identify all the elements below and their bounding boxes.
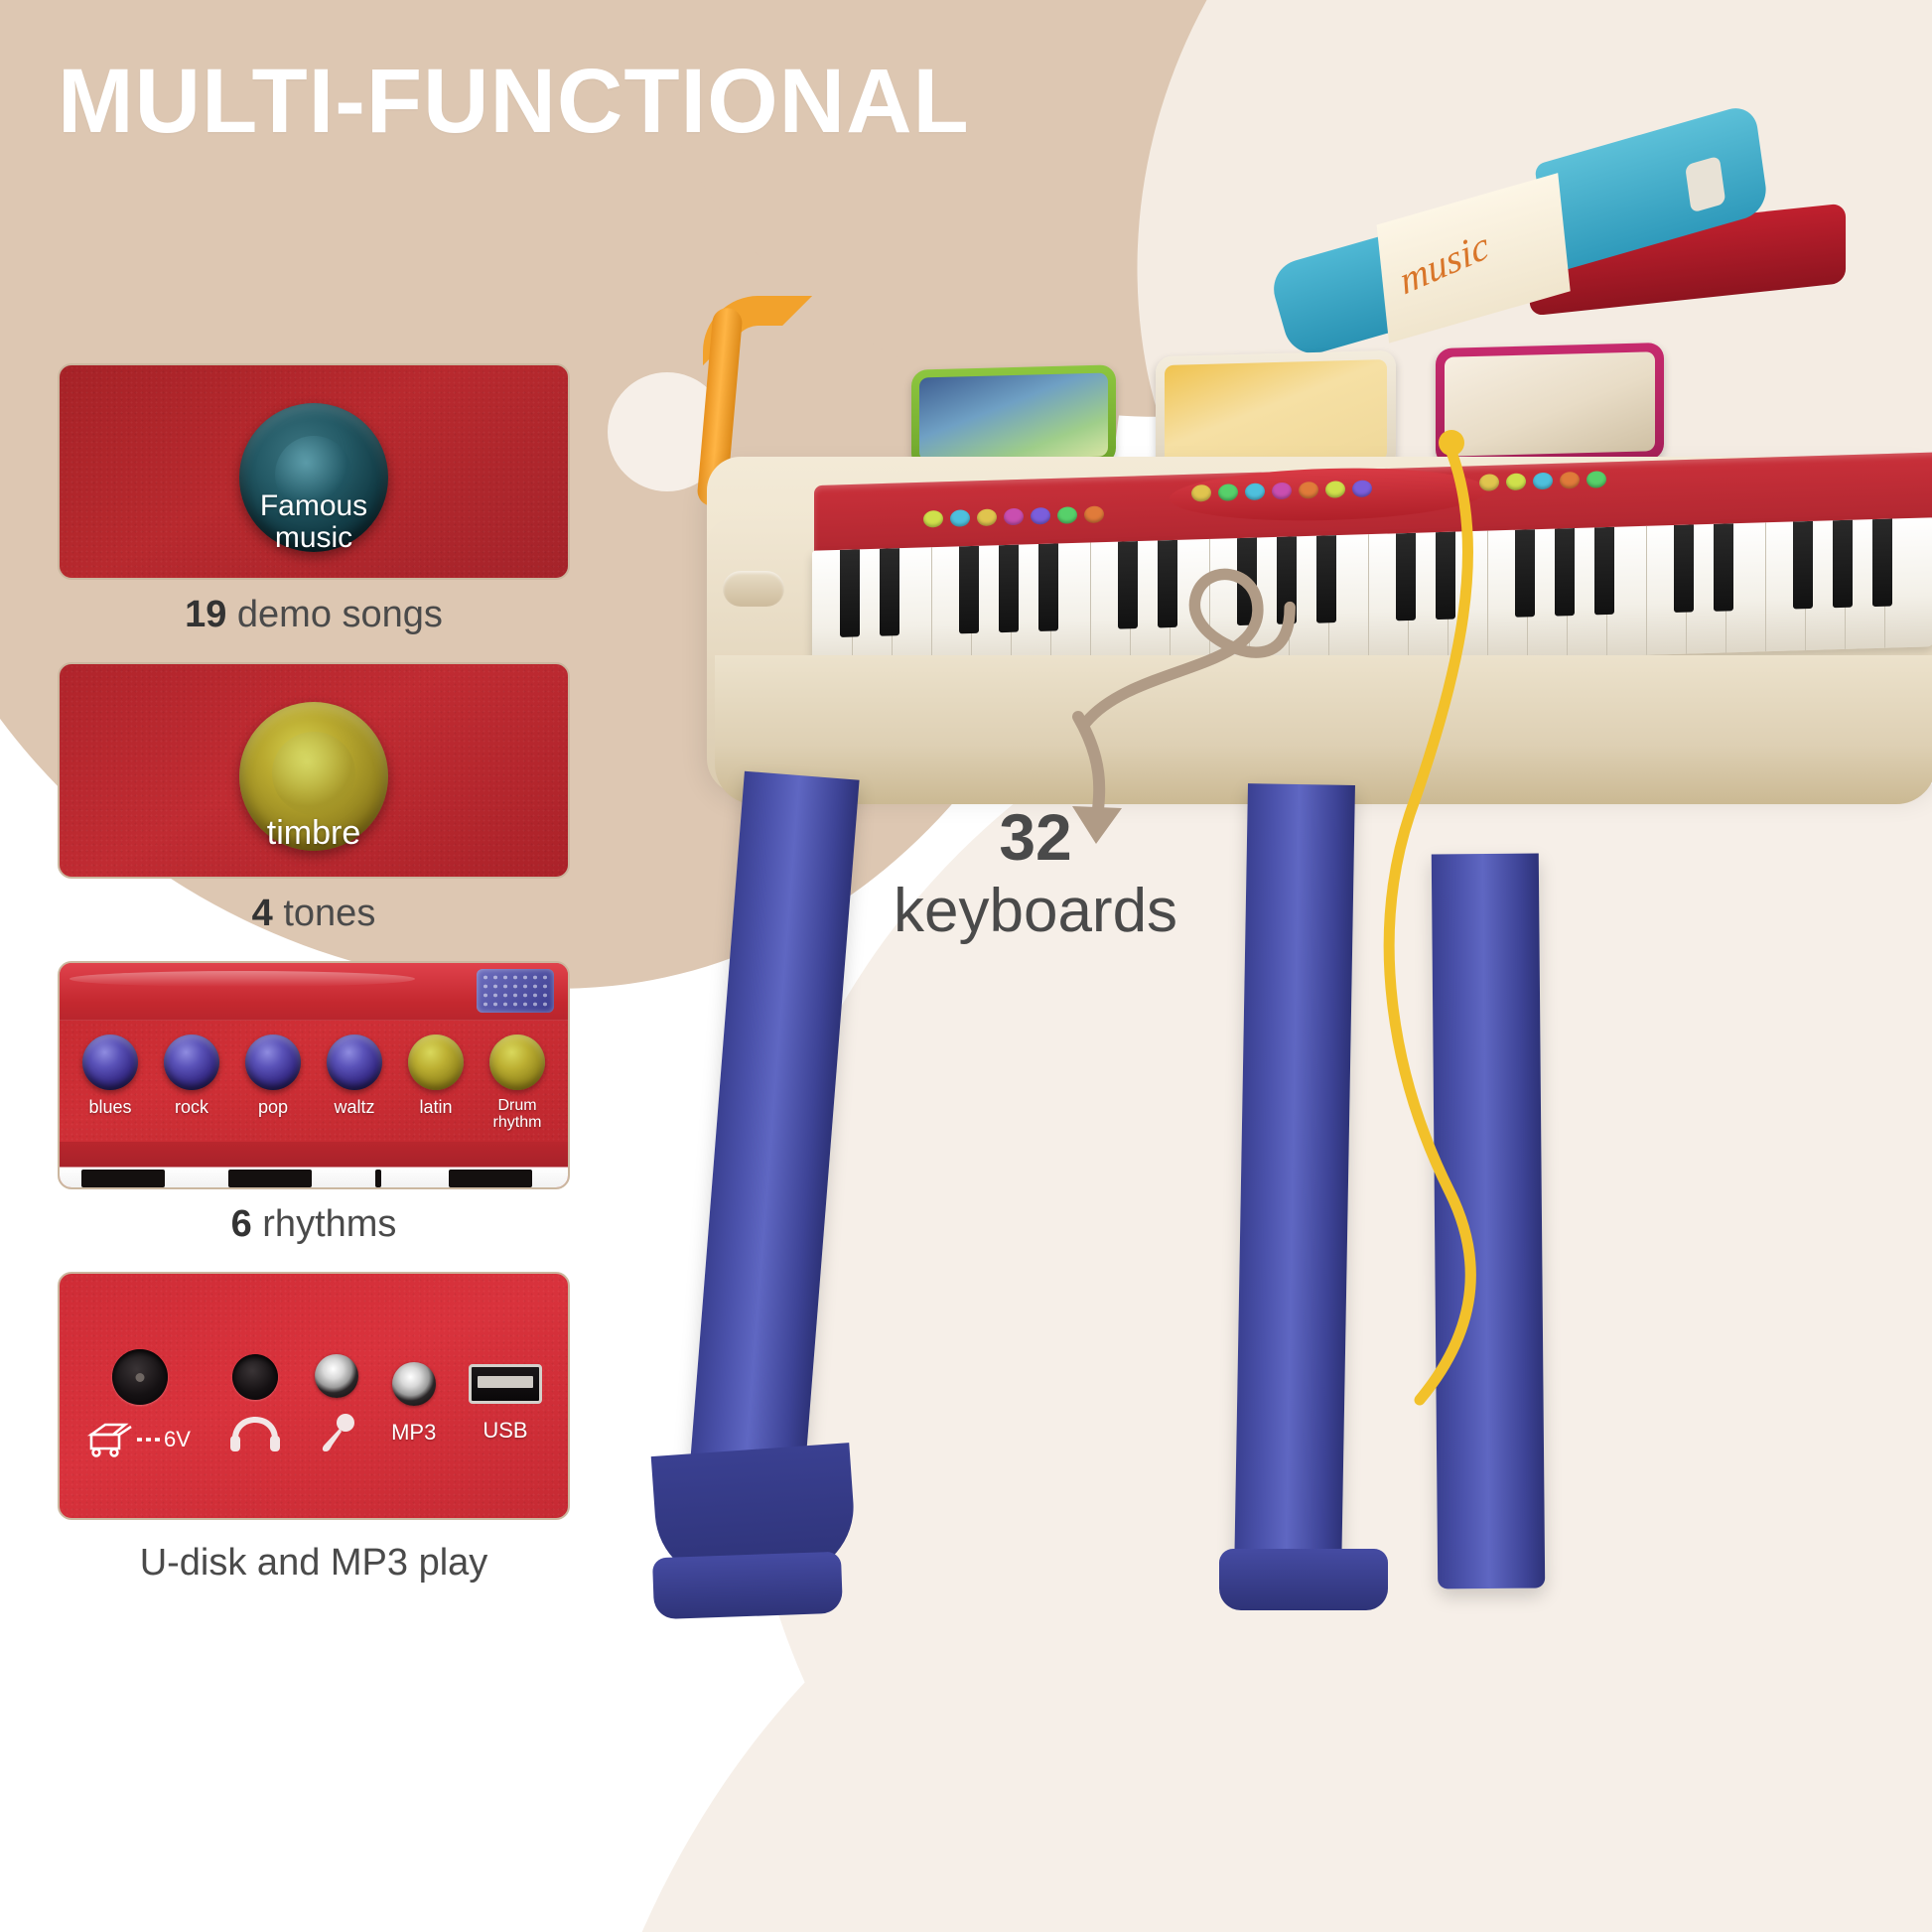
- headphone-icon: [227, 1414, 283, 1453]
- bead: [977, 508, 997, 526]
- feature-card-photo-tones: timbre: [58, 662, 570, 879]
- feature-tones: timbre 4 tones: [58, 662, 570, 951]
- callout-label: keyboards: [894, 876, 1177, 946]
- port-mp3: MP3: [391, 1362, 436, 1446]
- rhythm-label: latin: [399, 1098, 473, 1117]
- led-strip-icon: [477, 969, 554, 1013]
- keyboard-foot-left: [652, 1552, 843, 1620]
- panel-label-famous-music: Famous music: [60, 490, 568, 555]
- product-photo: music: [596, 119, 1932, 1932]
- feature-demo-songs: Famous music 19 demo songs: [58, 363, 570, 652]
- purple-button-icon: [82, 1035, 138, 1090]
- rhythm-button-pop: pop: [236, 1035, 310, 1132]
- bead: [1352, 480, 1372, 497]
- purple-button-icon: [164, 1035, 219, 1090]
- bead: [1587, 471, 1606, 488]
- usb-connector-icon: [469, 1364, 542, 1404]
- dc-power-icon: 6V: [85, 1419, 195, 1458]
- rhythm-label: pop: [236, 1098, 310, 1117]
- keyboard-top-edge: [60, 963, 568, 1021]
- caption-text: tones: [273, 893, 376, 934]
- bead: [1325, 481, 1345, 498]
- bead: [1218, 483, 1238, 501]
- black-key: [375, 1170, 381, 1187]
- bead: [1272, 483, 1292, 500]
- feature-card-photo-ports: 6V: [58, 1272, 570, 1520]
- rhythm-button-rock: rock: [155, 1035, 228, 1132]
- port-microphone: [315, 1354, 358, 1453]
- dc-power-jack: [112, 1349, 168, 1405]
- picture-pad-rabbit: [1436, 343, 1664, 466]
- keyboard-leg-right: [1432, 854, 1545, 1589]
- mp3-jack: [392, 1362, 436, 1406]
- panel-label-timbre: timbre: [60, 815, 568, 852]
- pad-artwork: [1165, 359, 1387, 467]
- caption-number: 4: [252, 893, 273, 934]
- black-key: [449, 1170, 532, 1187]
- pad-artwork: [1445, 351, 1655, 457]
- rhythm-label: Drum rhythm: [481, 1098, 554, 1132]
- panel-label-line1: Famous: [60, 490, 568, 522]
- rhythm-button-row: blues rock pop waltz: [73, 1035, 554, 1132]
- svg-text:6V: 6V: [164, 1427, 191, 1451]
- feature-list: Famous music 19 demo songs timbre 4 tone…: [58, 363, 570, 1610]
- olive-button-icon: [489, 1035, 545, 1090]
- headphone-jack: [232, 1354, 278, 1400]
- keyboard-side-knob: [723, 571, 784, 607]
- panel-label-line2: music: [60, 522, 568, 554]
- caption-text: rhythms: [252, 1203, 397, 1245]
- port-usb: USB: [469, 1364, 542, 1444]
- microphone-sticker-text: music: [1395, 221, 1493, 305]
- port-headphone: [227, 1354, 283, 1453]
- infographic-stage: MULTI-FUNCTIONAL Famous music 19 demo so…: [0, 0, 1932, 1932]
- port-label-mp3: MP3: [391, 1420, 436, 1446]
- bead: [1084, 505, 1104, 523]
- feature-card-photo-demo-songs: Famous music: [58, 363, 570, 580]
- feature-caption-rhythms: 6 rhythms: [58, 1189, 570, 1262]
- feature-caption-tones: 4 tones: [58, 879, 570, 951]
- port-label-usb: USB: [469, 1418, 542, 1444]
- bead: [1245, 483, 1265, 500]
- picture-pad-dinosaur: [911, 364, 1116, 469]
- port-row: 6V: [85, 1349, 542, 1458]
- feature-caption-ports: U-disk and MP3 play: [58, 1520, 570, 1600]
- keyboard-bottom-edge: [60, 1142, 568, 1187]
- pad-artwork: [919, 373, 1108, 462]
- keyboard-foot-center: [1219, 1549, 1388, 1610]
- black-key: [81, 1170, 165, 1187]
- callout-arrow-icon: [1013, 546, 1350, 844]
- rhythm-label: blues: [73, 1098, 147, 1117]
- rhythm-label: rock: [155, 1098, 228, 1117]
- bead: [1057, 506, 1077, 524]
- bead: [1191, 484, 1211, 502]
- bead: [1506, 473, 1526, 490]
- bead: [1479, 474, 1499, 491]
- bead: [1299, 482, 1318, 499]
- caption-number: 19: [185, 594, 226, 635]
- rhythm-button-drum: Drum rhythm: [481, 1035, 554, 1132]
- microphone-switch: [1685, 156, 1725, 213]
- purple-button-icon: [327, 1035, 382, 1090]
- caption-number: 6: [231, 1203, 252, 1245]
- keyboard-leg-center: [1234, 783, 1355, 1580]
- rhythm-button-latin: latin: [399, 1035, 473, 1132]
- microphone-jack: [315, 1354, 358, 1398]
- olive-button-icon: [408, 1035, 464, 1090]
- bead: [1031, 507, 1050, 525]
- bead: [1560, 472, 1580, 489]
- callout-number: 32: [894, 804, 1177, 870]
- feature-card-photo-rhythms: blues rock pop waltz: [58, 961, 570, 1189]
- feature-rhythms: blues rock pop waltz: [58, 961, 570, 1262]
- black-key: [228, 1170, 312, 1187]
- microphone-icon: [315, 1412, 358, 1453]
- rhythm-button-waltz: waltz: [318, 1035, 391, 1132]
- port-dc-power: 6V: [85, 1349, 195, 1458]
- bead: [923, 510, 943, 528]
- feature-ports: 6V: [58, 1272, 570, 1600]
- bead: [1533, 473, 1553, 490]
- bead: [1004, 508, 1024, 526]
- caption-text: demo songs: [226, 594, 443, 635]
- rhythm-button-blues: blues: [73, 1035, 147, 1132]
- rhythm-label: waltz: [318, 1098, 391, 1117]
- feature-caption-demo-songs: 19 demo songs: [58, 580, 570, 652]
- purple-button-icon: [245, 1035, 301, 1090]
- control-bead-row-right: [1479, 471, 1606, 491]
- bead: [950, 509, 970, 527]
- keyboards-callout: 32 keyboards: [894, 804, 1177, 946]
- microphone-sticker: music: [1377, 173, 1571, 344]
- page-title: MULTI-FUNCTIONAL: [58, 52, 970, 152]
